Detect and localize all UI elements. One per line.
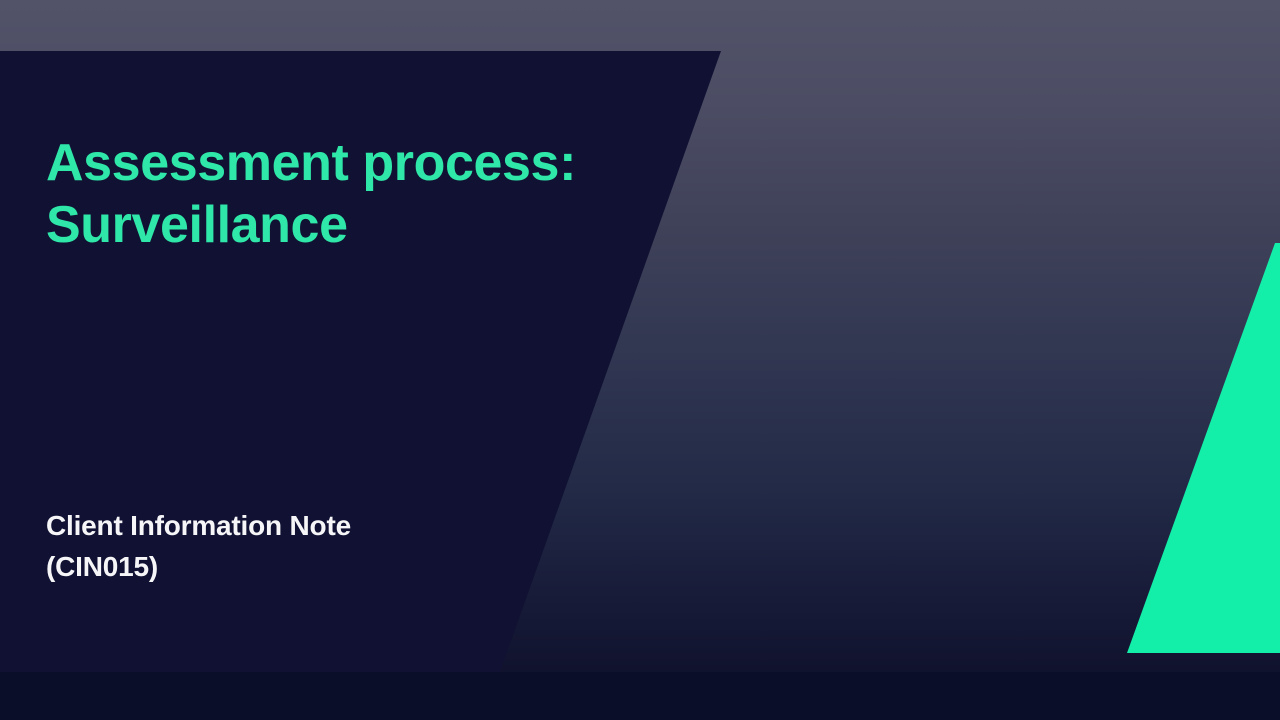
title-block: Assessment process: Surveillance: [46, 132, 646, 256]
mint-accent-triangle: [1100, 230, 1280, 660]
title-slide: Assessment process: Surveillance Client …: [0, 0, 1280, 720]
slide-bottom-band: [0, 672, 1280, 720]
subtitle-block: Client Information Note (CIN015): [46, 505, 646, 587]
slide-subtitle: Client Information Note (CIN015): [46, 505, 646, 587]
angled-navy-panel: [0, 0, 760, 700]
slide-title: Assessment process: Surveillance: [46, 132, 646, 256]
